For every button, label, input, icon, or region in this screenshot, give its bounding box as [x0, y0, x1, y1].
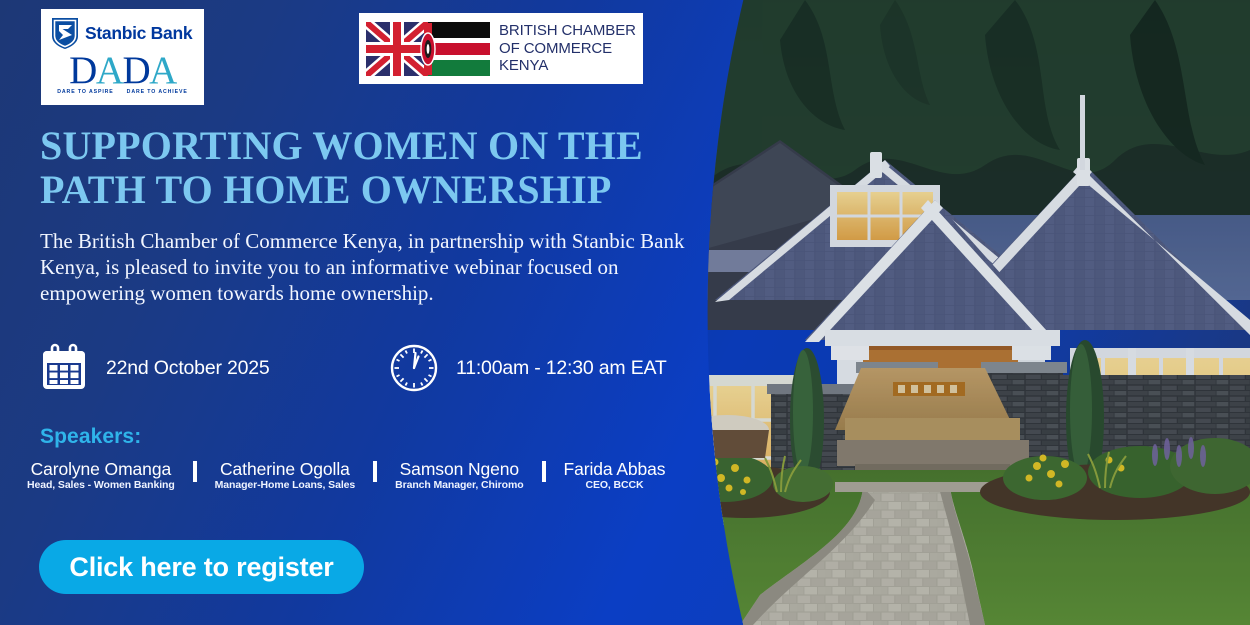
event-date-label: 22nd October 2025	[106, 357, 270, 380]
speaker-role: Branch Manager, Chiromo	[395, 479, 523, 492]
dada-tagline: DARE TO ASPIREDARE TO ACHIEVE	[41, 88, 204, 96]
speaker-divider	[542, 461, 546, 482]
bcck-line-1: BRITISH CHAMBER	[499, 22, 636, 40]
speaker-name: Catherine Ogolla	[215, 459, 355, 479]
stanbic-lockup: Stanbic Bank	[41, 14, 204, 52]
photo-panel	[685, 0, 1250, 625]
bcck-logo: BRITISH CHAMBER OF COMMERCE KENYA	[359, 13, 643, 84]
uk-kenya-flag-icon	[366, 22, 490, 76]
content-panel: Stanbic Bank DADA DARE TO ASPIREDARE TO …	[0, 0, 720, 625]
speaker-name: Samson Ngeno	[395, 459, 523, 479]
speaker-role: Manager-Home Loans, Sales	[215, 479, 355, 492]
event-time-label: 11:00am - 12:30 am EAT	[456, 357, 667, 380]
speaker-role: Head, Sales - Women Banking	[27, 479, 175, 492]
speaker-divider	[373, 461, 377, 482]
speaker-item: Carolyne Omanga Head, Sales - Women Bank…	[18, 459, 184, 492]
speaker-item: Farida Abbas CEO, BCCK	[555, 459, 675, 492]
webinar-banner: Stanbic Bank DADA DARE TO ASPIREDARE TO …	[0, 0, 1250, 625]
stanbic-brand-name: Stanbic Bank	[85, 23, 192, 44]
calendar-icon	[38, 342, 90, 394]
speaker-divider	[193, 461, 197, 482]
event-meta: 22nd October 2025	[38, 342, 708, 398]
speakers-list: Carolyne Omanga Head, Sales - Women Bank…	[18, 459, 674, 492]
dada-lockup: DADA DARE TO ASPIREDARE TO ACHIEVE	[41, 52, 204, 102]
dada-wordmark: DADA	[41, 52, 204, 90]
event-date: 22nd October 2025	[38, 342, 270, 394]
page-title: SUPPORTING WOMEN ON THE PATH TO HOME OWN…	[40, 124, 700, 212]
speaker-item: Catherine Ogolla Manager-Home Loans, Sal…	[206, 459, 364, 492]
intro-paragraph: The British Chamber of Commerce Kenya, i…	[40, 228, 688, 306]
event-time: 11:00am - 12:30 am EAT	[388, 342, 667, 394]
clock-icon	[388, 342, 440, 394]
stanbic-dada-logo: Stanbic Bank DADA DARE TO ASPIREDARE TO …	[41, 9, 204, 105]
stanbic-shield-icon	[50, 16, 80, 50]
house-exterior-photo	[685, 0, 1250, 625]
register-button[interactable]: Click here to register	[39, 540, 364, 594]
speakers-heading: Speakers:	[40, 425, 141, 449]
speaker-role: CEO, BCCK	[564, 479, 666, 492]
photo-clip-curve	[685, 0, 1250, 625]
speaker-name: Farida Abbas	[564, 459, 666, 479]
bcck-line-3: KENYA	[499, 57, 636, 75]
bcck-name: BRITISH CHAMBER OF COMMERCE KENYA	[499, 22, 636, 75]
bcck-line-2: OF COMMERCE	[499, 40, 636, 58]
speaker-item: Samson Ngeno Branch Manager, Chiromo	[386, 459, 532, 492]
speaker-name: Carolyne Omanga	[27, 459, 175, 479]
